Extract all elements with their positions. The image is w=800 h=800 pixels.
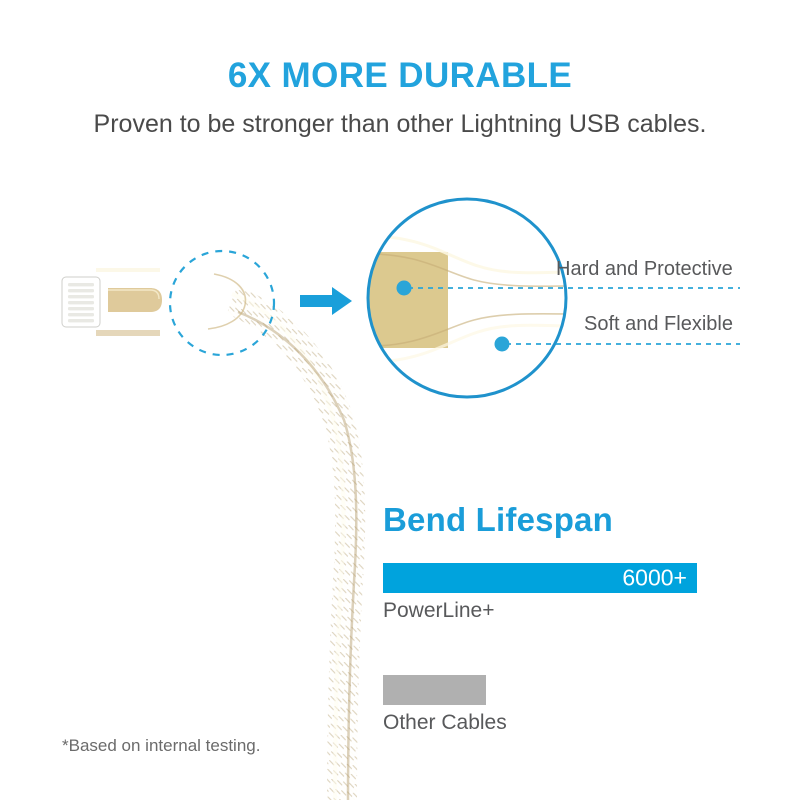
- chart-bar-powerline: 6000+: [383, 563, 697, 593]
- callout-label-hard: Hard and Protective: [556, 258, 733, 281]
- bend-lifespan-chart: Bend Lifespan 6000+ PowerLine+ Other Cab…: [383, 503, 713, 735]
- chart-bar-label-other: Other Cables: [383, 711, 713, 735]
- cable-strain-relief: [150, 272, 249, 332]
- callout-label-soft: Soft and Flexible: [584, 313, 733, 336]
- chart-bar-value-powerline: 6000+: [622, 567, 687, 590]
- magnifier-circle: [360, 195, 580, 401]
- blue-dot-marker-hard: [397, 281, 412, 296]
- footnote: *Based on internal testing.: [62, 736, 260, 756]
- chart-title: Bend Lifespan: [383, 503, 713, 536]
- product-infographic: 6X MORE DURABLE Proven to be stronger th…: [0, 0, 800, 800]
- chart-bar-other: [383, 675, 486, 705]
- lightning-plug-icon: [62, 277, 100, 327]
- blue-dot-marker-soft: [495, 337, 510, 352]
- braided-cable: [232, 294, 356, 800]
- chart-bar-row-other: Other Cables: [383, 675, 713, 735]
- chart-bar-row-powerline: 6000+ PowerLine+: [383, 563, 713, 623]
- arrow-right-icon: [300, 287, 352, 315]
- cable-connector-housing: [96, 268, 162, 336]
- chart-bar-label-powerline: PowerLine+: [383, 599, 713, 623]
